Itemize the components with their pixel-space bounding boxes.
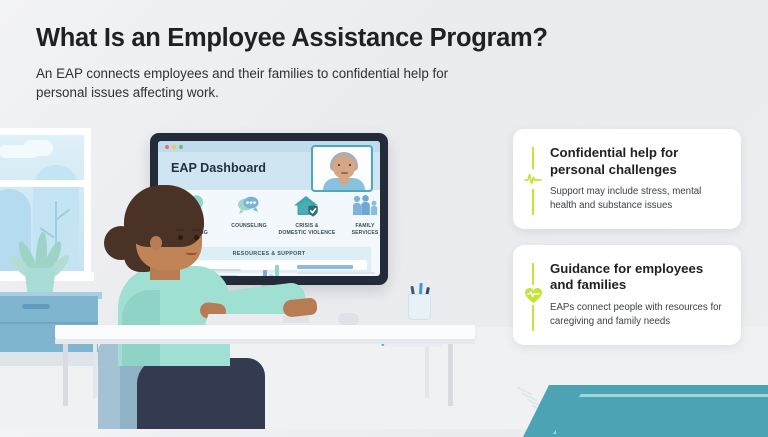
infographic-canvas: EAP Dashboard (0, 0, 768, 429)
page-title: What Is an Employee Assistance Program? (36, 24, 556, 53)
info-card-list: Confidential help for personal challenge… (513, 129, 741, 345)
category-crisis-domestic-violence[interactable]: CRISIS & DOMESTIC VIOLENCE (278, 192, 336, 237)
category-label: CRISIS & DOMESTIC VIOLENCE (278, 223, 336, 237)
heart-pulse-icon (523, 285, 543, 305)
category-label: COUNSELING (220, 223, 278, 230)
avatar-face (333, 156, 355, 179)
speech-bubbles-icon (220, 192, 278, 220)
bar (263, 270, 267, 276)
participant-video-tile[interactable] (311, 145, 373, 192)
cabinet-handle (22, 304, 50, 309)
maximize-dot-icon[interactable] (179, 145, 183, 149)
desk-surface (55, 325, 475, 339)
person-eye (194, 235, 199, 240)
dashboard-title: EAP Dashboard (171, 161, 266, 175)
card-text: Confidential help for personal challenge… (550, 145, 725, 213)
person-mouth (186, 252, 197, 255)
office-chair-edge (98, 338, 120, 429)
person-ear (150, 236, 162, 250)
page-subtitle: An EAP connects employees and their fami… (36, 64, 476, 102)
person-eyebrow (192, 229, 200, 231)
card-text: Guidance for employees and families EAPs… (550, 261, 725, 329)
card-heading: Guidance for employees and families (550, 261, 725, 294)
info-card-guidance[interactable]: Guidance for employees and families EAPs… (513, 245, 741, 345)
desk-leg (63, 344, 68, 406)
minimize-dot-icon[interactable] (172, 145, 176, 149)
bar-chart (257, 264, 287, 276)
window-mullion (0, 180, 91, 187)
desk-leg (425, 344, 429, 398)
category-family-services[interactable]: FAMILY SERVICES (336, 192, 380, 237)
category-counseling[interactable]: COUNSELING (220, 192, 278, 230)
desk-edge (55, 339, 475, 344)
bar (275, 265, 279, 276)
pen-cup (408, 294, 431, 320)
keyboard-trackpad[interactable] (283, 316, 309, 323)
person-legs (137, 358, 265, 429)
family-group-icon (336, 192, 380, 220)
text-line (297, 272, 375, 274)
desk-leg (448, 344, 453, 406)
desk-leg (93, 344, 97, 398)
rug-inner-border (553, 394, 768, 434)
header: What Is an Employee Assistance Program? … (36, 24, 556, 102)
person-hair (124, 185, 204, 247)
card-accent (526, 261, 540, 329)
card-body: EAPs connect people with resources for c… (550, 301, 725, 329)
person-eye (178, 235, 183, 240)
avatar-mouth (341, 172, 348, 174)
card-body: Support may include stress, mental healt… (550, 185, 725, 213)
cloud-shape (23, 140, 53, 156)
person-eyebrow (176, 229, 184, 231)
card-heading: Confidential help for personal challenge… (550, 145, 725, 178)
card-accent (526, 145, 540, 213)
cabinet-shadow (0, 352, 98, 366)
mouse[interactable] (338, 313, 359, 325)
close-dot-icon[interactable] (165, 145, 169, 149)
text-line-highlight (297, 265, 353, 269)
info-card-confidential-help[interactable]: Confidential help for personal challenge… (513, 129, 741, 229)
category-label: FAMILY SERVICES (336, 223, 380, 237)
cabinet-seam (0, 322, 98, 324)
pulse-line-icon (523, 169, 543, 189)
bar (269, 274, 273, 276)
house-shield-icon (278, 192, 336, 220)
